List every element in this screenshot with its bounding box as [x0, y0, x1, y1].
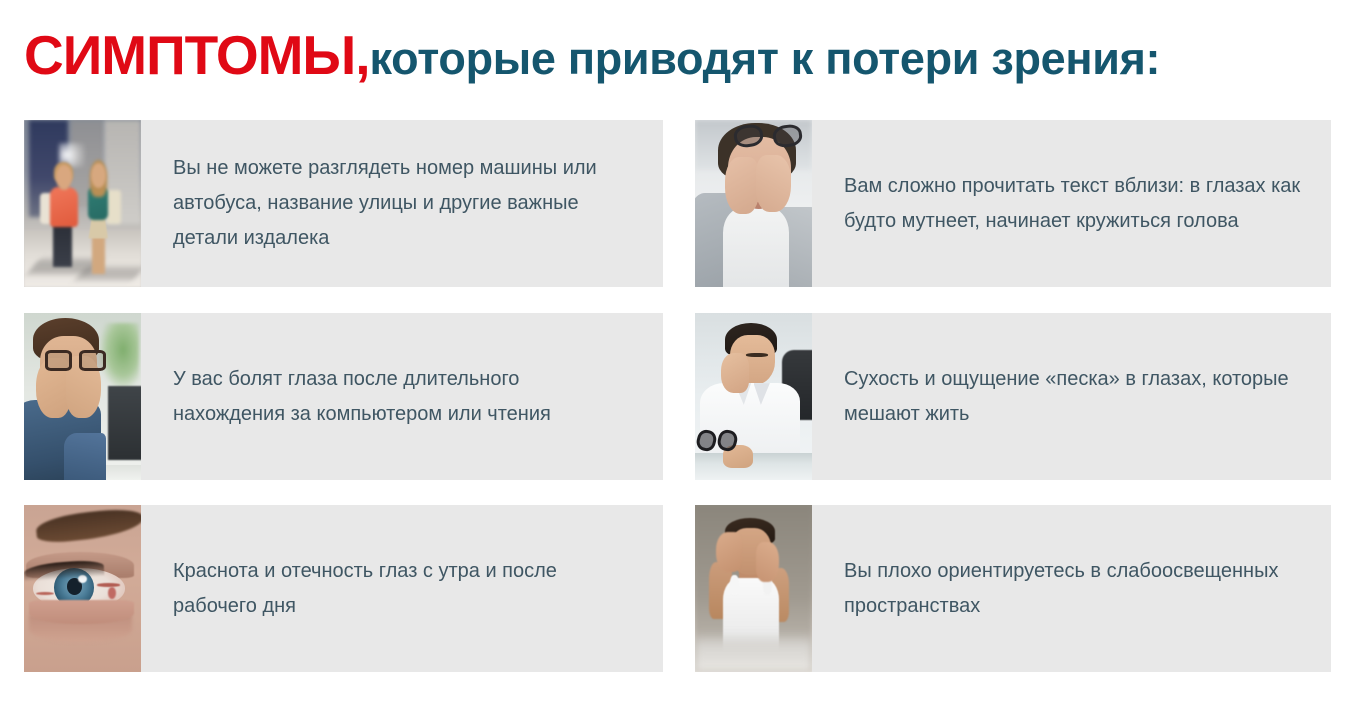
symptom-card-distance-vision: Вы не можете разглядеть номер машины или…	[24, 120, 663, 287]
symptom-card-body: Сухость и ощущение «песка» в глазах, кот…	[812, 313, 1331, 480]
page-title-emphasis: СИМПТОМЫ,	[24, 24, 370, 86]
symptom-card-body: Краснота и отечность глаз с утра и после…	[141, 505, 663, 672]
blurred-street-scene-photo	[24, 120, 141, 287]
man-white-shirt-tired-eyes-photo	[695, 313, 812, 480]
man-tank-top-headache-photo	[695, 505, 812, 672]
symptom-card-body: Вы не можете разглядеть номер машины или…	[141, 120, 663, 287]
page-title-rest: которые приводят к потери зрения:	[370, 33, 1161, 84]
symptom-card-night-vision: Вы плохо ориентируетесь в слабоосвещенны…	[695, 505, 1331, 672]
symptom-card-grid: Вы не можете разглядеть номер машины или…	[0, 118, 1355, 718]
symptom-card-text: Вам сложно прочитать текст вблизи: в гла…	[844, 169, 1305, 239]
symptom-card-text: У вас болят глаза после длительного нахо…	[173, 362, 637, 432]
symptom-card-text: Вы плохо ориентируетесь в слабоосвещенны…	[844, 554, 1305, 624]
symptom-card-eye-pain: У вас болят глаза после длительного нахо…	[24, 313, 663, 480]
symptom-card-near-vision: Вам сложно прочитать текст вблизи: в гла…	[695, 120, 1331, 287]
symptom-card-text: Сухость и ощущение «песка» в глазах, кот…	[844, 362, 1305, 432]
symptom-card-text: Вы не можете разглядеть номер машины или…	[173, 151, 637, 256]
symptom-card-red-swollen-eyes: Краснота и отечность глаз с утра и после…	[24, 505, 663, 672]
symptoms-infographic: СИМПТОМЫ,которые приводят к потери зрени…	[0, 0, 1355, 724]
symptom-card-body: У вас болят глаза после длительного нахо…	[141, 313, 663, 480]
woman-rubbing-eyes-photo	[695, 120, 812, 287]
symptom-card-body: Вы плохо ориентируетесь в слабоосвещенны…	[812, 505, 1331, 672]
symptom-card-body: Вам сложно прочитать текст вблизи: в гла…	[812, 120, 1331, 287]
man-denim-shirt-rubbing-eyes-photo	[24, 313, 141, 480]
symptom-card-text: Краснота и отечность глаз с утра и после…	[173, 554, 637, 624]
symptom-card-dry-eyes: Сухость и ощущение «песка» в глазах, кот…	[695, 313, 1331, 480]
page-title: СИМПТОМЫ,которые приводят к потери зрени…	[24, 24, 1334, 86]
close-up-irritated-eye-photo	[24, 505, 141, 672]
